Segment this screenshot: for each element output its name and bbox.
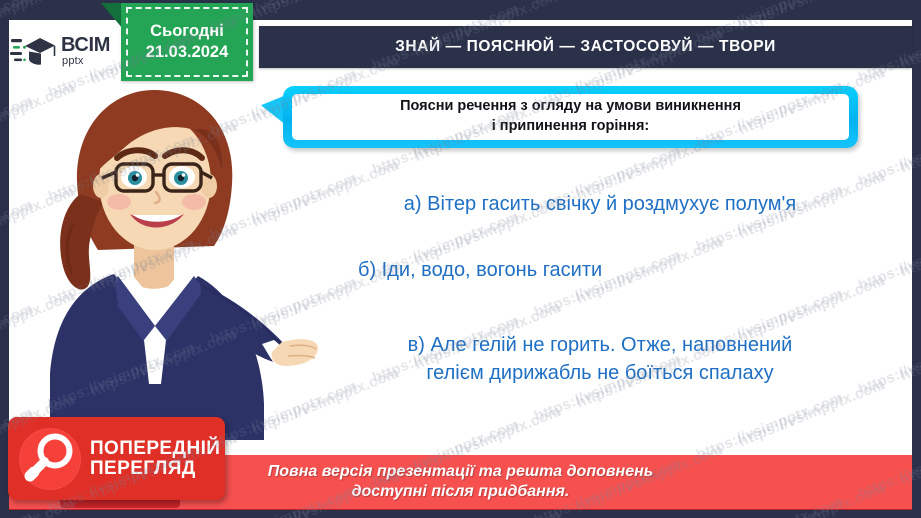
date-badge-label: Сьогодні <box>150 21 224 42</box>
question-list: а) Вітер гасить свічку й роздмухує полум… <box>300 190 900 422</box>
preview-badge-line-1: ПОПЕРЕДНІЙ <box>90 439 220 458</box>
header-bar: ЗНАЙ — ПОЯСНЮЙ — ЗАСТОСОВУЙ — ТВОРИ <box>259 26 912 68</box>
brand-name: ВСІМ <box>61 35 110 55</box>
graduation-cap-icon <box>10 32 56 70</box>
preview-badge-line-2: ПЕРЕГЛЯД <box>90 459 220 478</box>
magnifier-icon <box>19 428 81 490</box>
footer-line-1: Повна версія презентації та решта доповн… <box>268 462 654 482</box>
speech-bubble-line-2: і припинення горіння: <box>492 117 649 137</box>
brand-logo[interactable]: ВСІМ pptx <box>10 28 130 74</box>
question-item-b: б) Іди, водо, вогонь гасити <box>300 256 900 284</box>
slide-canvas: п С ВСІМ pptx Сьогодні 21.03.2024 <box>0 0 921 518</box>
date-badge: Сьогодні 21.03.2024 <box>121 3 253 81</box>
speech-bubble: Поясни речення з огляду на умови виникне… <box>283 86 858 148</box>
header-title: ЗНАЙ — ПОЯСНЮЙ — ЗАСТОСОВУЙ — ТВОРИ <box>395 38 776 56</box>
speech-bubble-line-1: Поясни речення з огляду на умови виникне… <box>400 97 741 117</box>
preview-badge[interactable]: ПОПЕРЕДНІЙ ПЕРЕГЛЯД <box>8 417 225 500</box>
question-item-a: а) Вітер гасить свічку й роздмухує полум… <box>300 190 900 218</box>
footer-line-2: доступні після придбання. <box>352 482 570 502</box>
brand-suffix: pptx <box>62 56 110 67</box>
teacher-character-illustration <box>18 74 318 440</box>
date-badge-value: 21.03.2024 <box>146 42 229 63</box>
question-item-c: в) Але гелій не горить. Отже, наповнений… <box>300 331 900 388</box>
